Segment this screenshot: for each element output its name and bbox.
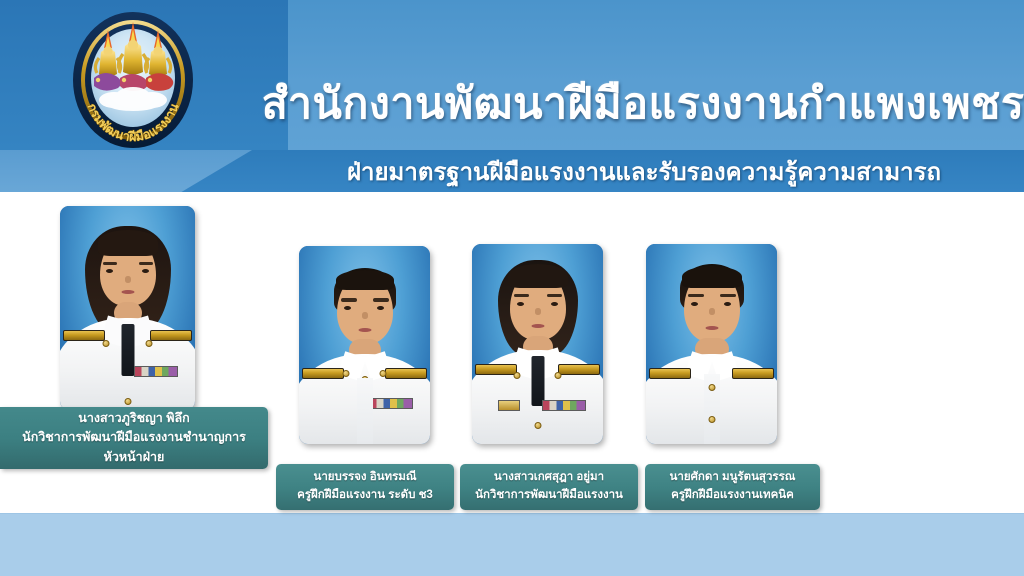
epaulette-left <box>475 364 517 375</box>
epaulette-right <box>385 368 427 379</box>
nose <box>535 308 541 315</box>
ribbon-bar <box>134 366 178 377</box>
eye-right <box>377 306 384 310</box>
epaulette-right <box>558 364 600 375</box>
hair-front <box>336 270 394 290</box>
portrait-image-member-2 <box>472 244 603 444</box>
page-header: กรมพัฒนาฝีมือแรงงาน สำนักงานพัฒนาฝีมือแร… <box>0 0 1024 192</box>
mouth <box>358 328 371 332</box>
eyebrow-left <box>103 262 117 265</box>
thai-government-emblem-icon: กรมพัฒนาฝีมือแรงงาน <box>58 8 208 156</box>
eyebrow-left <box>514 294 529 297</box>
button-top <box>708 384 715 391</box>
eyebrow-right <box>139 262 153 265</box>
eye-left <box>344 306 351 310</box>
portrait-image-member-1 <box>299 246 430 444</box>
caption-member-1: นายบรรจง อินทรมณี ครูฝึกฝีมือแรงงาน ระดั… <box>276 464 454 510</box>
button-right <box>146 340 153 347</box>
content-stage: นางสาวภูริชญา พิลึก นักวิชาการพัฒนาฝีมือ… <box>0 192 1024 576</box>
caption-member-2: นางสาวเกศสุฎา อยู่มา นักวิชาการพัฒนาฝีมื… <box>460 464 638 510</box>
portrait-member-3 <box>646 244 777 444</box>
epaulette-left <box>302 368 344 379</box>
button-right <box>379 370 386 377</box>
member-name: นายบรรจง อินทรมณี <box>313 469 416 487</box>
nose <box>709 308 715 315</box>
eye-right <box>142 269 149 273</box>
member-position: นักวิชาการพัฒนาฝีมือแรงงาน <box>475 487 623 505</box>
eye-left <box>691 302 698 306</box>
nose <box>125 276 131 283</box>
portrait-member-2 <box>472 244 603 444</box>
eyebrow-left <box>688 294 704 297</box>
lead-name: นางสาวภูริชญา พิลึก <box>78 409 189 428</box>
epaulette-right <box>150 330 192 341</box>
eyebrow-right <box>720 294 736 297</box>
necktie <box>531 356 544 406</box>
lead-role: หัวหน้าฝ่าย <box>104 448 165 467</box>
portrait-image-member-3 <box>646 244 777 444</box>
member-position: ครูฝึกฝีมือแรงงาน ระดับ ช3 <box>297 487 433 505</box>
hair-front <box>508 264 568 288</box>
epaulette-right <box>732 368 774 379</box>
button-center <box>534 422 541 429</box>
badge-insignia <box>498 400 520 411</box>
member-position: ครูฝึกฝีมือแรงงานเทคนิค <box>671 487 794 505</box>
necktie <box>121 324 134 376</box>
eyebrow-left <box>341 298 357 302</box>
department-emblem-logo: กรมพัฒนาฝีมือแรงงาน <box>58 8 208 156</box>
epaulette-left <box>649 368 691 379</box>
ribbon-bar <box>369 398 413 409</box>
mouth <box>531 324 544 328</box>
eyebrow-right <box>547 294 562 297</box>
caption-member-3: นายศักดา มนูรัตนสุวรรณ ครูฝึกฝีมือแรงงาน… <box>645 464 820 510</box>
button-left <box>102 340 109 347</box>
button-center <box>708 416 715 423</box>
mouth <box>705 326 718 330</box>
button-right <box>555 372 562 379</box>
eyebrow-right <box>373 298 389 302</box>
portrait-image-lead <box>60 206 195 410</box>
mouth <box>121 290 134 294</box>
page-title: สำนักงานพัฒนาฝีมือแรงงานกำแพงเพชร <box>278 72 1008 134</box>
caption-lead: นางสาวภูริชญา พิลึก นักวิชาการพัฒนาฝีมือ… <box>0 407 268 469</box>
portrait-member-1 <box>299 246 430 444</box>
eye-right <box>551 302 558 306</box>
hair-front <box>682 266 742 288</box>
ribbon-bar <box>542 400 586 411</box>
epaulette-left <box>63 330 105 341</box>
portrait-lead <box>60 206 195 410</box>
eye-left <box>517 302 524 306</box>
eye-right <box>724 302 731 306</box>
button-left <box>343 370 350 377</box>
jacket-placket <box>357 378 373 444</box>
button-left <box>513 372 520 379</box>
eye-left <box>106 269 113 273</box>
page-subtitle: ฝ่ายมาตรฐานฝีมือแรงงานและรับรองความรู้คว… <box>288 154 1000 188</box>
bottom-band <box>0 513 1024 576</box>
member-name: นายศักดา มนูรัตนสุวรรณ <box>670 469 796 487</box>
nose <box>362 312 368 319</box>
lead-position: นักวิชาการพัฒนาฝีมือแรงงานชำนาญการ <box>22 428 246 447</box>
button-center <box>124 398 131 405</box>
hair-front <box>98 230 158 256</box>
member-name: นางสาวเกศสุฎา อยู่มา <box>494 469 604 487</box>
